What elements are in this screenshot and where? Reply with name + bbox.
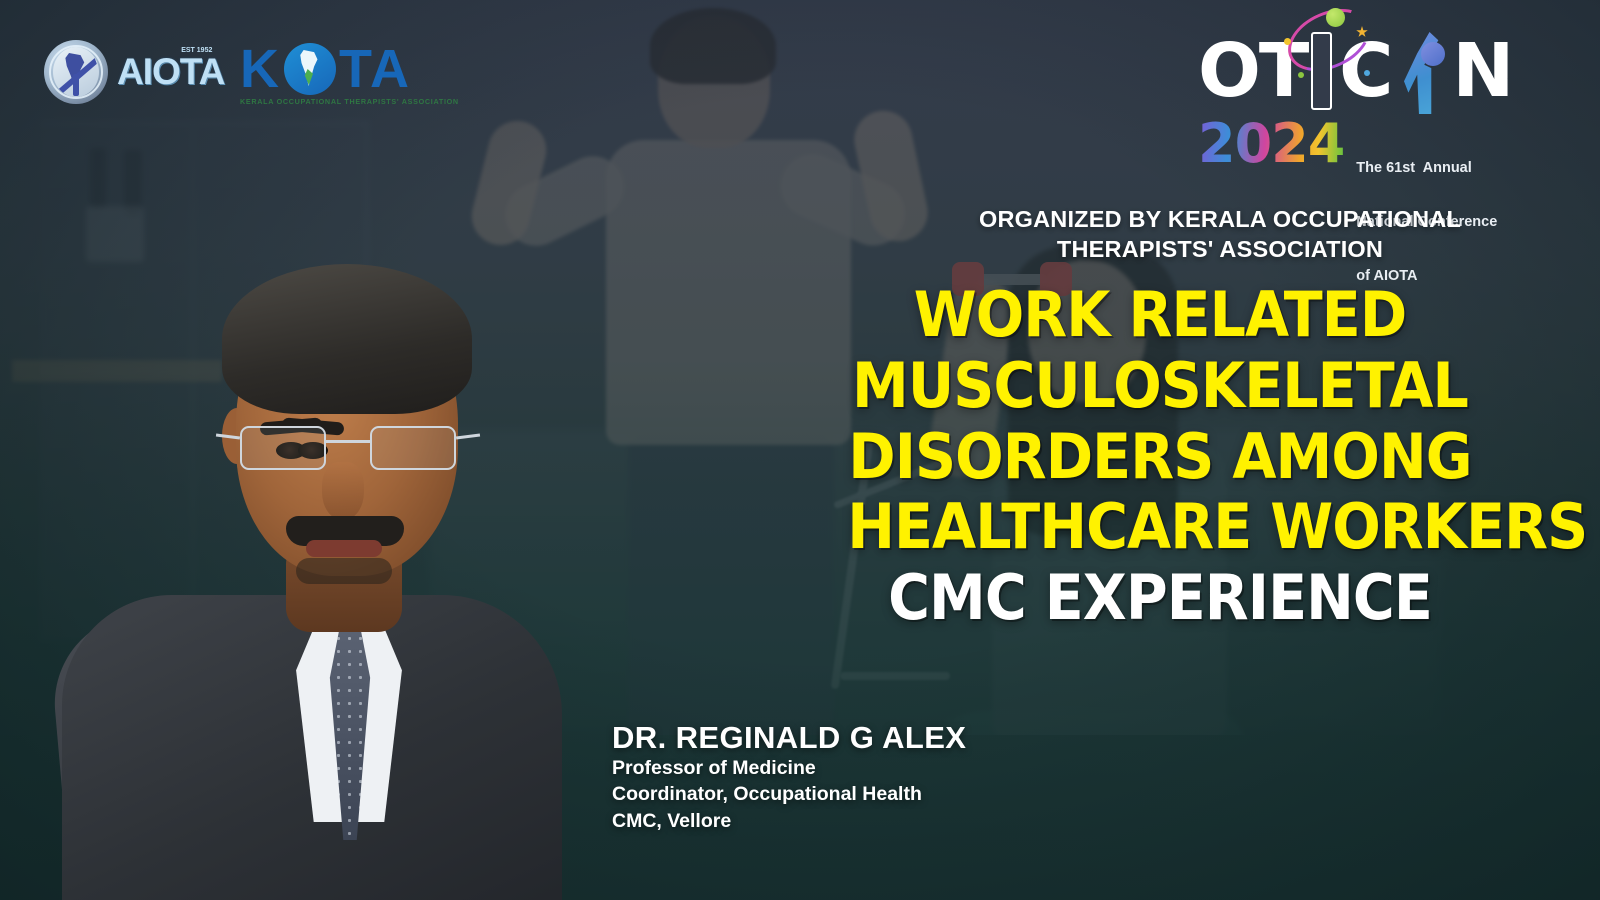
exclamation-mark-icon: [1311, 32, 1332, 110]
oticon-year: 2024: [1198, 118, 1344, 169]
speaker-affiliation: CMC, Vellore: [612, 808, 966, 835]
kota-letters-ta: TA: [339, 42, 411, 96]
organized-by-text: ORGANIZED BY KERALA OCCUPATIONAL THERAPI…: [940, 204, 1500, 264]
speaker-details: DR. REGINALD G ALEX Professor of Medicin…: [612, 722, 966, 835]
aiota-india-emblem-icon: [44, 40, 108, 104]
sparkle-dot-icon: [1364, 70, 1370, 76]
aiota-wordmark: AIOTA EST 1952: [117, 51, 224, 93]
organized-by-line-1: ORGANIZED BY KERALA OCCUPATIONAL: [940, 204, 1500, 234]
title-line: CMC EXPERIENCE: [847, 568, 1473, 629]
sparkle-dot-icon: [1298, 72, 1304, 78]
title-line: HEALTHCARE WORKERS -: [847, 497, 1473, 558]
green-sphere-icon: [1326, 8, 1345, 27]
tagline-line-1: The 61st Annual: [1356, 160, 1497, 178]
session-title: WORK RELATED MUSCULOSKELETAL DISORDERS A…: [820, 285, 1500, 639]
speaker-portrait: [110, 240, 490, 900]
kota-wordmark: K TA: [240, 42, 459, 96]
person-raising-arm-icon: [1394, 26, 1452, 114]
conference-poster: AIOTA EST 1952 K TA KERALA OCCUPATIONAL …: [0, 0, 1600, 900]
speaker-name: DR. REGINALD G ALEX: [612, 722, 966, 755]
title-line: MUSCULOSKELETAL: [847, 356, 1473, 417]
kota-logo: K TA KERALA OCCUPATIONAL THERAPISTS' ASS…: [240, 42, 459, 106]
aiota-logo: AIOTA EST 1952: [44, 40, 224, 104]
kota-subtitle: KERALA OCCUPATIONAL THERAPISTS' ASSOCIAT…: [240, 97, 459, 106]
speaker-position: Coordinator, Occupational Health: [612, 781, 966, 808]
organized-by-line-2: THERAPISTS' ASSOCIATION: [940, 234, 1500, 264]
aiota-name: AIOTA: [117, 51, 224, 92]
aiota-superscript: EST 1952: [181, 47, 212, 54]
kota-letter-k: K: [240, 42, 281, 96]
title-line: WORK RELATED: [847, 285, 1473, 346]
title-line: DISORDERS AMONG: [847, 427, 1473, 488]
sparkle-dot-icon: [1284, 38, 1291, 45]
kota-india-globe-icon: [284, 43, 336, 95]
speaker-role: Professor of Medicine: [612, 755, 966, 782]
